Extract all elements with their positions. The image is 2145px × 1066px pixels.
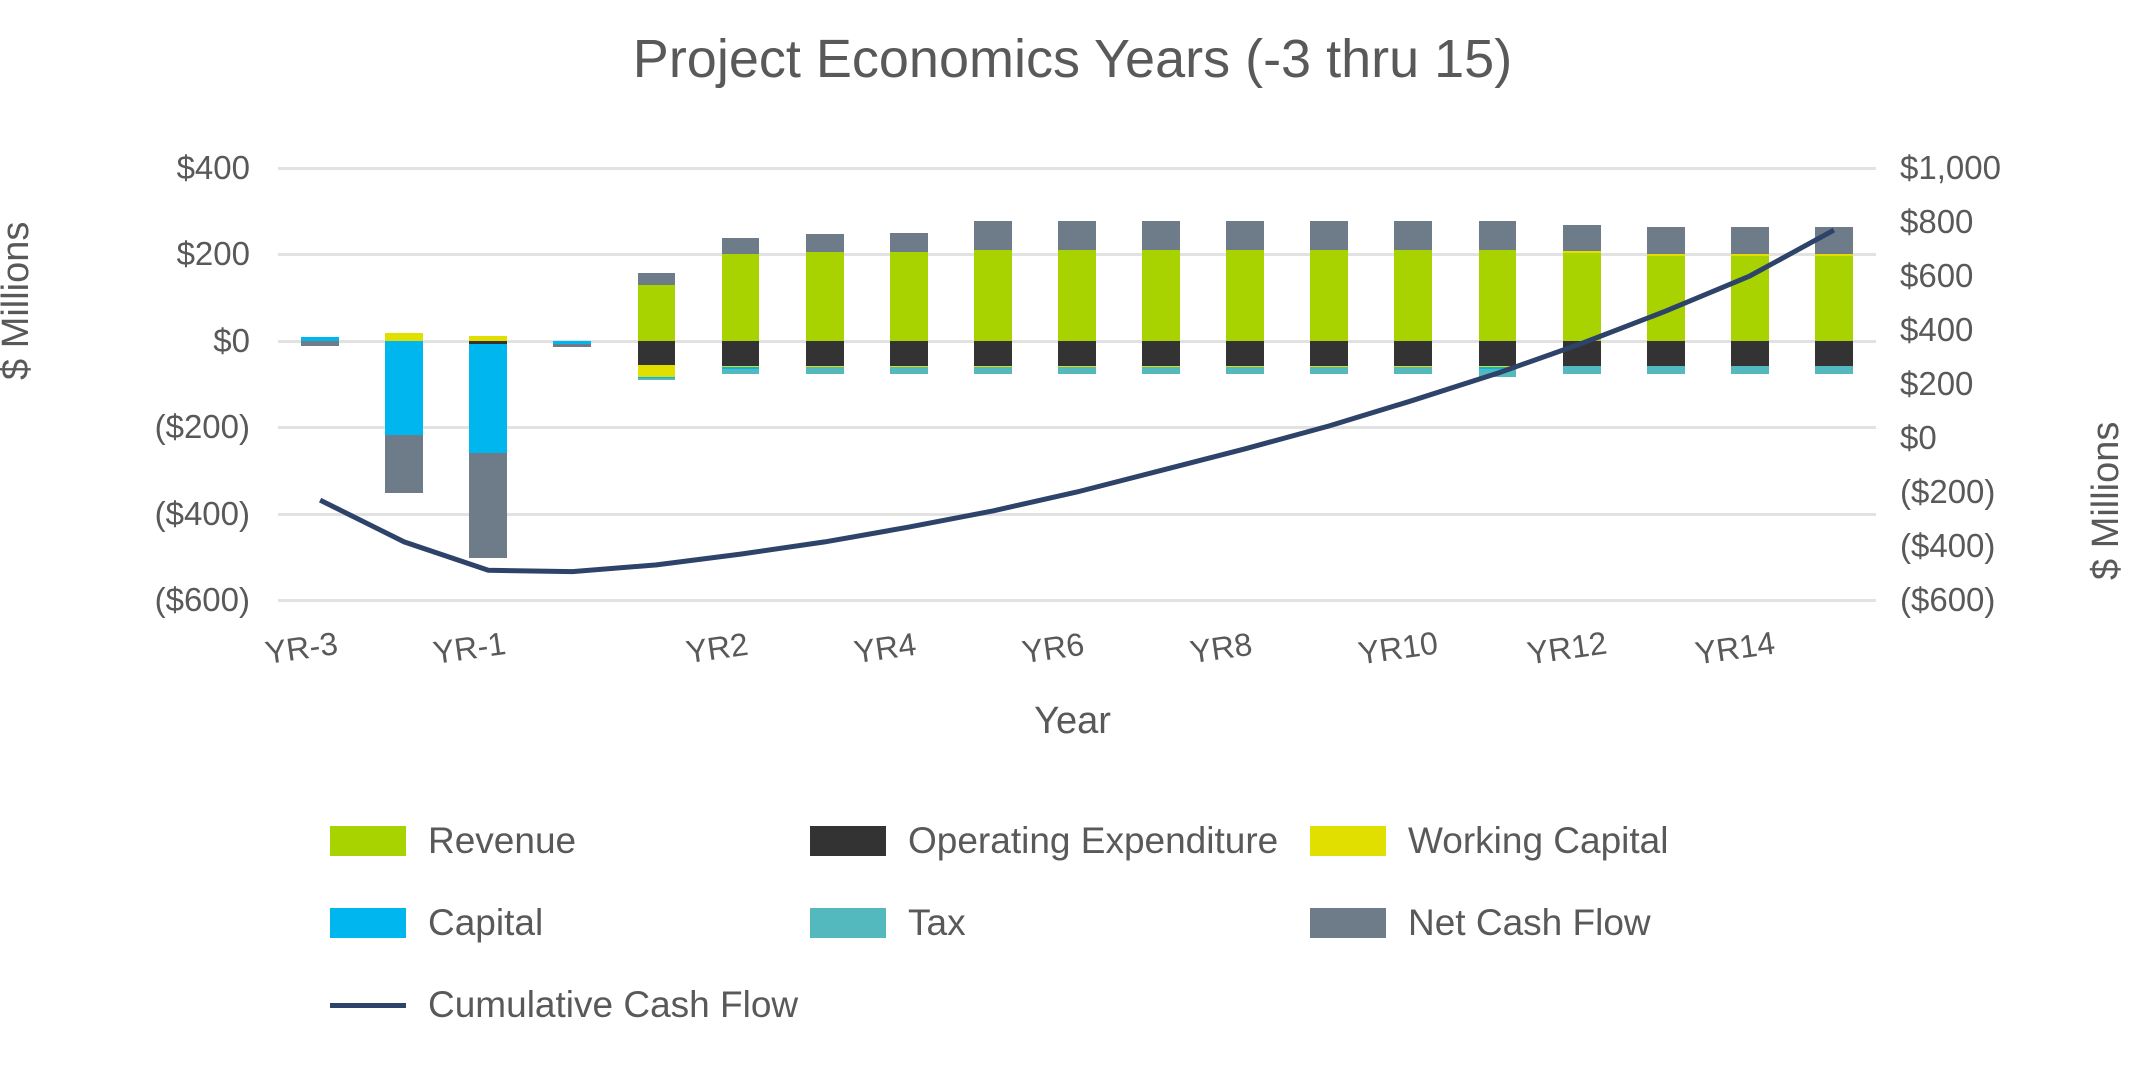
y-axis-left-tick-label: ($600) [50, 581, 250, 619]
legend-item-revenue[interactable]: Revenue [330, 820, 810, 862]
chart-title: Project Economics Years (-3 thru 15) [0, 28, 2145, 90]
legend-row: CapitalTaxNet Cash Flow [330, 902, 1830, 944]
line-path-cumulative-cash-flow [320, 230, 1834, 571]
y-axis-title-left: $ Millions [0, 222, 38, 380]
x-axis-title: Year [0, 700, 2145, 743]
plot-area [278, 168, 1876, 600]
y-axis-left-tick-label: $200 [50, 235, 250, 273]
y-axis-right-tick-label: $800 [1900, 203, 2140, 241]
legend-label: Capital [428, 902, 543, 944]
legend-label: Working Capital [1408, 820, 1668, 862]
x-axis-tick-label: YR4 [852, 626, 919, 671]
legend-row: RevenueOperating ExpenditureWorking Capi… [330, 820, 1830, 862]
y-axis-right-tick-label: $400 [1900, 311, 2140, 349]
x-axis-tick-label: YR12 [1524, 625, 1608, 673]
x-axis-tick-label: YR10 [1356, 625, 1440, 673]
legend-swatch-icon [330, 826, 406, 856]
legend-swatch-icon [1310, 826, 1386, 856]
y-axis-right-tick-label: $1,000 [1900, 149, 2140, 187]
y-axis-right-tick-label: ($200) [1900, 473, 2140, 511]
x-axis-tick-label: YR8 [1188, 626, 1255, 671]
y-axis-right-tick-label: ($600) [1900, 581, 2140, 619]
legend-label: Cumulative Cash Flow [428, 984, 798, 1026]
y-axis-left-tick-label: $0 [50, 322, 250, 360]
legend-item-tax[interactable]: Tax [810, 902, 1310, 944]
x-axis-tick-label: YR6 [1020, 626, 1087, 671]
legend-swatch-icon [1310, 908, 1386, 938]
legend-label: Revenue [428, 820, 576, 862]
legend-label: Net Cash Flow [1408, 902, 1651, 944]
y-axis-left-tick-label: ($200) [50, 408, 250, 446]
legend-swatch-icon [810, 826, 886, 856]
chart-container: Project Economics Years (-3 thru 15) $ M… [0, 0, 2145, 1061]
legend-item-capital[interactable]: Capital [330, 902, 810, 944]
y-axis-left-tick-label: $400 [50, 149, 250, 187]
x-axis-tick-label: YR2 [683, 626, 750, 671]
y-axis-right-tick-label: $200 [1900, 365, 2140, 403]
legend-line-icon [330, 1003, 406, 1008]
legend-swatch-icon [810, 908, 886, 938]
legend-label: Operating Expenditure [908, 820, 1278, 862]
chart-legend: RevenueOperating ExpenditureWorking Capi… [330, 820, 1830, 1066]
legend-label: Tax [908, 902, 966, 944]
y-axis-left-tick-label: ($400) [50, 495, 250, 533]
legend-row: Cumulative Cash Flow [330, 984, 1830, 1026]
legend-item-cumulative-cash-flow[interactable]: Cumulative Cash Flow [330, 984, 810, 1026]
cumulative-cash-flow-line [278, 168, 1876, 600]
x-axis-tick-label: YR-1 [431, 625, 508, 672]
x-axis-tick-label: YR-3 [263, 625, 340, 672]
legend-item-working-capital[interactable]: Working Capital [1310, 820, 1740, 862]
y-axis-right-tick-label: $600 [1900, 257, 2140, 295]
y-axis-right-tick-label: ($400) [1900, 527, 2140, 565]
legend-swatch-icon [330, 908, 406, 938]
x-axis-tick-label: YR14 [1693, 625, 1777, 673]
y-axis-right-tick-label: $0 [1900, 419, 2140, 457]
legend-item-operating-expenditure[interactable]: Operating Expenditure [810, 820, 1310, 862]
legend-item-net-cash-flow[interactable]: Net Cash Flow [1310, 902, 1740, 944]
